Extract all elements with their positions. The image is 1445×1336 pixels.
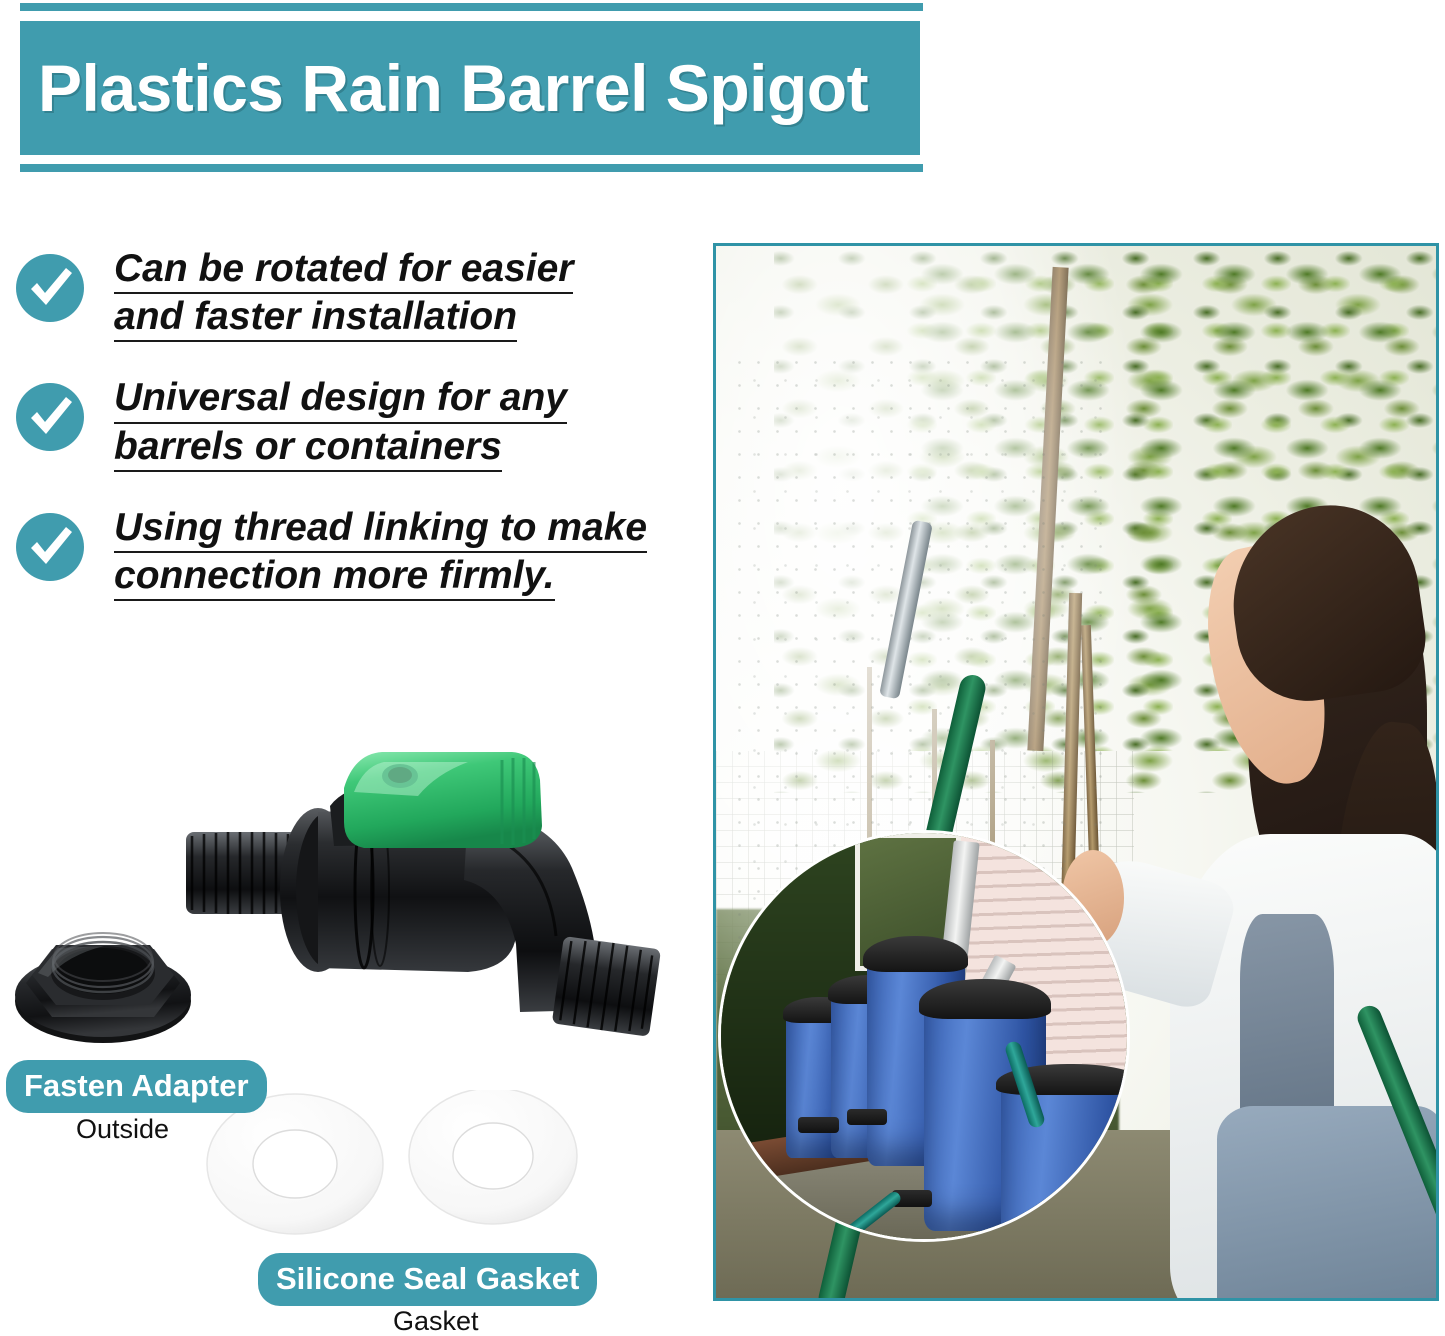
feature-text: Using thread linking to make connection … <box>114 505 647 601</box>
feature-text: Universal design for any barrels or cont… <box>114 375 567 471</box>
banner-block: Plastics Rain Barrel Spigot <box>20 21 920 155</box>
feature-line: Can be rotated for easier <box>114 246 573 294</box>
page-title: Plastics Rain Barrel Spigot <box>38 55 868 121</box>
feature-text: Can be rotated for easier and faster ins… <box>114 246 573 342</box>
banner-rule-top <box>20 3 923 11</box>
feature-line: Using thread linking to make <box>114 505 647 553</box>
feature-line: connection more firmly. <box>114 553 555 601</box>
barrel-lid <box>919 979 1051 1019</box>
feature-line: barrels or containers <box>114 424 502 472</box>
feature-item: Universal design for any barrels or cont… <box>0 375 700 471</box>
fasten-adapter-label: Fasten Adapter <box>6 1060 267 1113</box>
feature-item: Can be rotated for easier and faster ins… <box>0 246 700 342</box>
barrel-spigot <box>798 1117 839 1133</box>
silicone-gasket-label: Silicone Seal Gasket <box>258 1253 597 1306</box>
fasten-adapter-caption: Outside <box>76 1116 169 1143</box>
feature-line: and faster installation <box>114 294 517 342</box>
feature-list: Can be rotated for easier and faster ins… <box>0 246 700 634</box>
fasten-adapter-image <box>8 915 198 1050</box>
spigot-product-image <box>168 740 678 1070</box>
check-circle-icon <box>14 252 86 324</box>
feature-item: Using thread linking to make connection … <box>0 505 700 601</box>
title-banner: Plastics Rain Barrel Spigot <box>0 0 945 180</box>
banner-rule-bottom <box>20 164 923 172</box>
barrel-spigot <box>847 1109 888 1125</box>
check-circle-icon <box>14 511 86 583</box>
rain-barrel <box>1001 1077 1130 1242</box>
silicone-gasket-caption: Gasket <box>393 1308 479 1335</box>
product-photo-area: Fasten Adapter Outside Silicone Seal Gas… <box>0 720 700 1328</box>
feature-line: Universal design for any <box>114 375 567 423</box>
rain-barrel-inset-photo <box>718 830 1130 1242</box>
silicone-gasket-image <box>205 1090 605 1235</box>
check-circle-icon <box>14 381 86 453</box>
lifestyle-photo-panel <box>713 243 1439 1301</box>
